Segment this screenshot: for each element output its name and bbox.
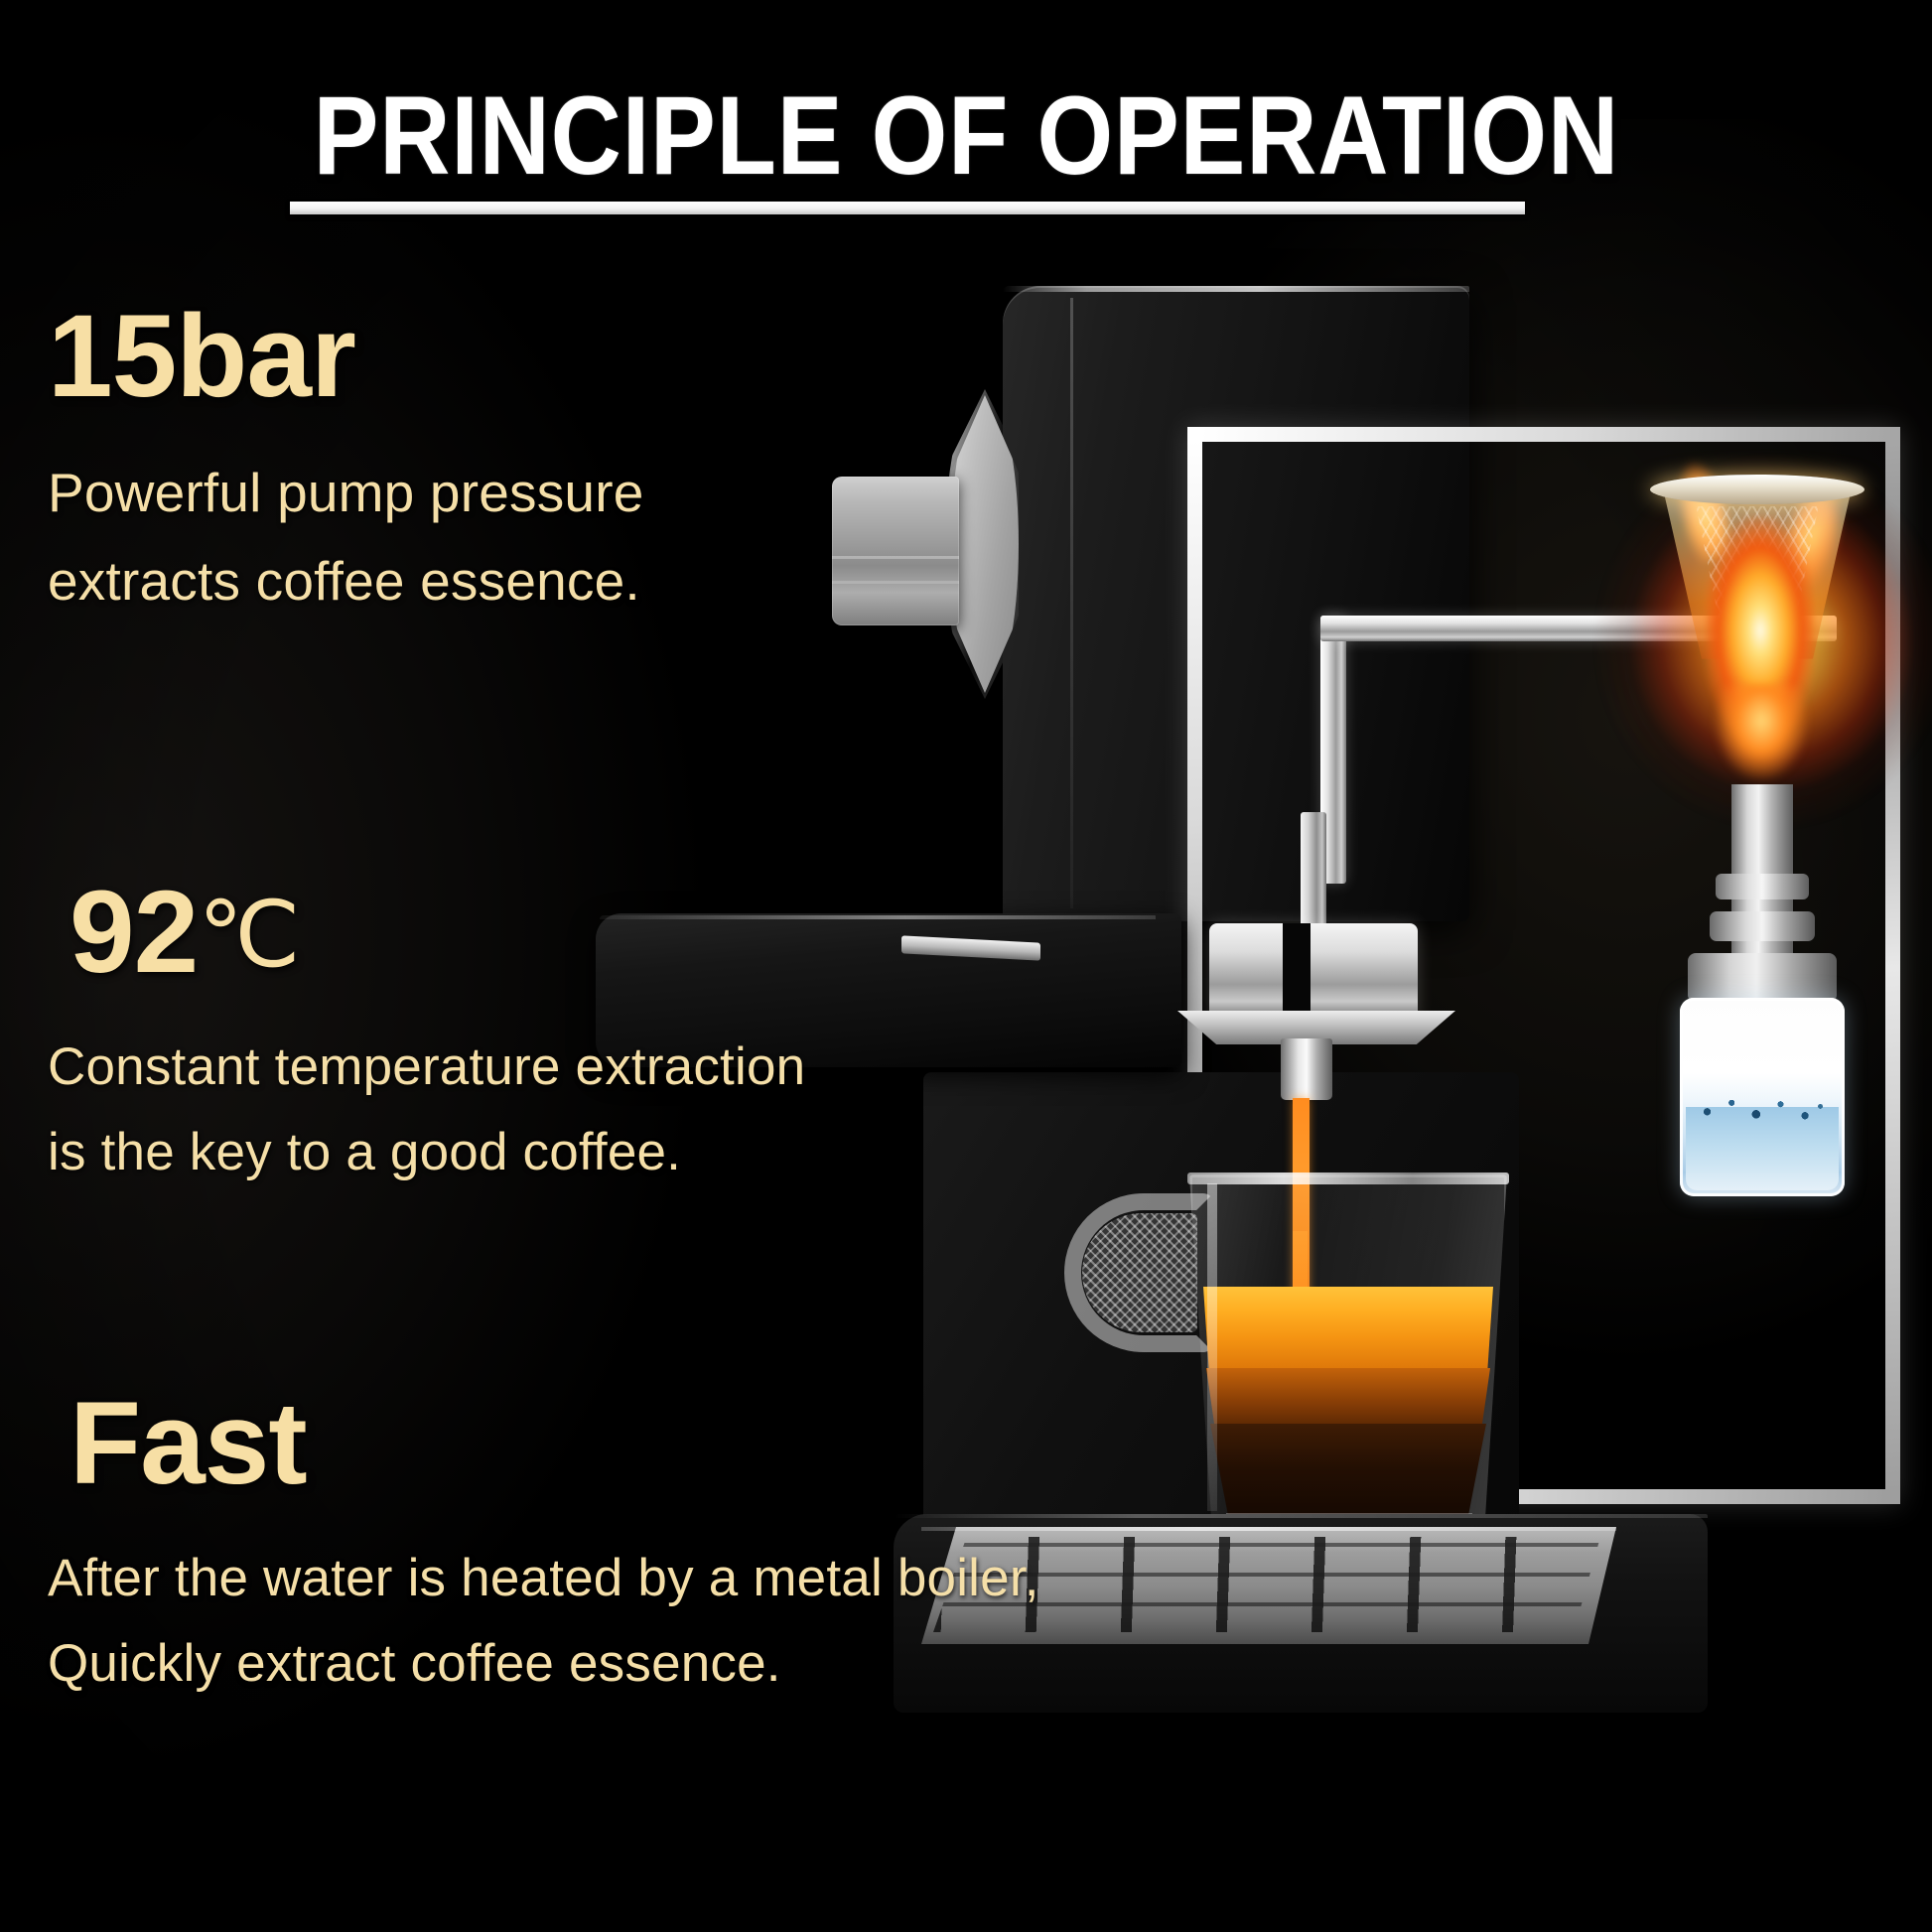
portafilter-basket xyxy=(1209,923,1418,1019)
feature-temperature: 92℃ Constant temperature extraction is t… xyxy=(48,874,1001,1195)
boiler-rim xyxy=(1650,475,1864,504)
drip-tray-edge xyxy=(921,1527,1616,1531)
machine-body-top-edge xyxy=(1003,286,1469,292)
feature-speed-body: After the water is heated by a metal boi… xyxy=(48,1536,1001,1707)
feature-pressure-line-1: Powerful pump pressure xyxy=(48,449,1001,537)
feature-temperature-line-2: is the key to a good coffee. xyxy=(48,1110,1001,1195)
feature-speed-value: Fast xyxy=(69,1378,307,1509)
infographic-canvas: PRINCIPLE OF OPERATION 15bar Powerful pu… xyxy=(0,0,1932,1932)
feature-speed-line-1: After the water is heated by a metal boi… xyxy=(48,1536,1001,1621)
machine-body-lower-edge xyxy=(894,1514,1708,1518)
boiler-tube-ring-top xyxy=(1716,874,1809,899)
feature-temperature-line-1: Constant temperature extraction xyxy=(48,1025,1001,1110)
feature-pressure-line-2: extracts coffee essence. xyxy=(48,537,1001,625)
feature-speed: Fast After the water is heated by a meta… xyxy=(48,1385,1001,1707)
portafilter-spout xyxy=(1281,1038,1332,1100)
machine-body-seam xyxy=(1070,298,1073,908)
feature-temperature-body: Constant temperature extraction is the k… xyxy=(48,1025,1001,1195)
cup-rim xyxy=(1187,1173,1509,1184)
coffee-middle-layer xyxy=(1206,1368,1490,1428)
coffee-dark-layer xyxy=(1210,1424,1486,1523)
feature-pressure-value: 15bar xyxy=(48,291,355,422)
feature-temperature-heading: 92℃ xyxy=(48,874,1001,991)
feature-temperature-value: 92 xyxy=(69,867,198,998)
feature-pressure: 15bar Powerful pump pressure extracts co… xyxy=(48,298,1001,625)
feature-pressure-heading: 15bar xyxy=(48,298,1001,415)
feature-pressure-body: Powerful pump pressure extracts coffee e… xyxy=(48,449,1001,625)
feature-speed-heading: Fast xyxy=(48,1385,1001,1502)
coffee-crema-layer xyxy=(1203,1287,1493,1372)
degree-celsius-icon: ℃ xyxy=(198,882,300,988)
portafilter-notch xyxy=(1283,923,1311,1015)
boiler-tube-ring-bottom xyxy=(1710,911,1815,941)
cup-handle-mesh xyxy=(1082,1213,1197,1332)
water-tank-bubbles xyxy=(1686,1092,1839,1128)
water-tank-collar xyxy=(1688,953,1837,1003)
cup-highlight xyxy=(1207,1183,1217,1511)
feature-speed-line-2: Quickly extract coffee essence. xyxy=(48,1621,1001,1707)
